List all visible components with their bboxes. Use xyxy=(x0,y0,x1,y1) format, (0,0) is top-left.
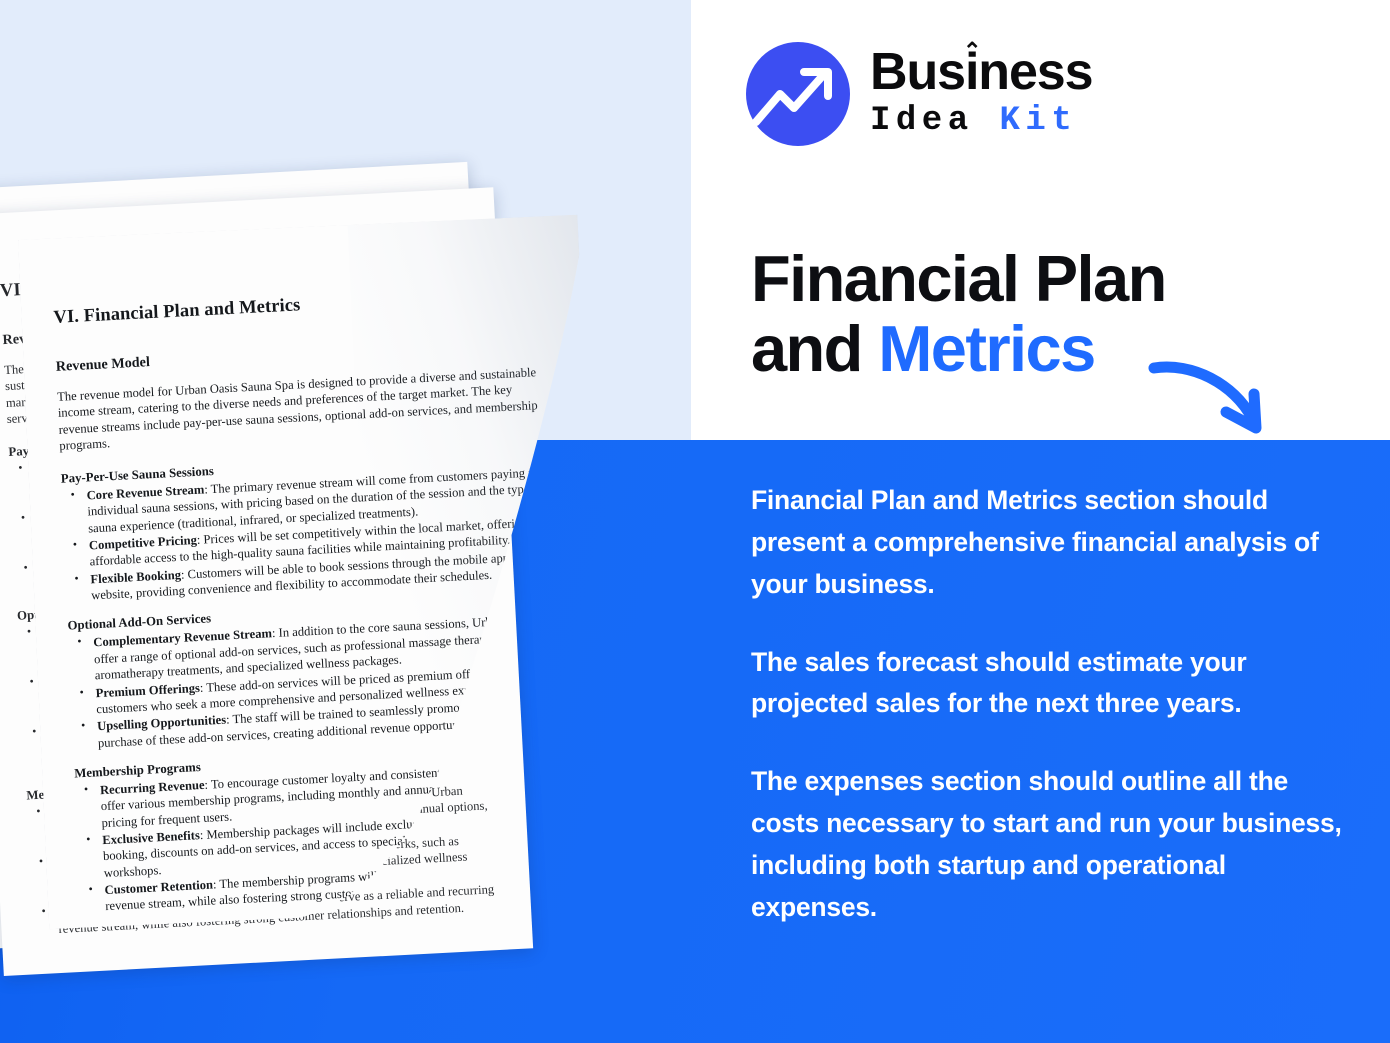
logo-wordmark: Busi⌃ness Idea Kit xyxy=(870,46,1092,141)
logo-line-idea-kit: Idea Kit xyxy=(870,102,1092,141)
page-title-line2-accent: Metrics xyxy=(878,312,1094,385)
page-title-line1: Financial Plan xyxy=(751,242,1166,315)
slide-canvas: VI. Financial Plan and Metrics Revenue M… xyxy=(0,0,1390,1043)
document-stack: VI. Financial Plan and Metrics Revenue M… xyxy=(0,0,740,1043)
document-paragraph: The revenue model for Urban Oasis Sauna … xyxy=(57,363,553,454)
document-bullet-list: Core Revenue Stream: The primary revenue… xyxy=(61,463,560,605)
curved-down-right-arrow-icon xyxy=(1148,352,1278,449)
description-paragraph-1: Financial Plan and Metrics section shoul… xyxy=(751,480,1351,606)
page-title-line2-prefix: and xyxy=(751,312,878,385)
logo-word-idea: Idea xyxy=(870,102,974,140)
description-paragraph-2: The sales forecast should estimate your … xyxy=(751,642,1351,726)
description-paragraph-3: The expenses section should outline all … xyxy=(751,761,1351,928)
logo-word-kit: Kit xyxy=(1000,102,1078,140)
brand-logo[interactable]: Busi⌃ness Idea Kit xyxy=(746,42,1092,146)
description-block: Financial Plan and Metrics section shoul… xyxy=(751,480,1351,929)
growth-chart-arrow-icon xyxy=(746,42,850,146)
document-title: VI. Financial Plan and Metrics xyxy=(53,283,547,329)
logo-line-business: Busi⌃ness xyxy=(870,46,1092,98)
